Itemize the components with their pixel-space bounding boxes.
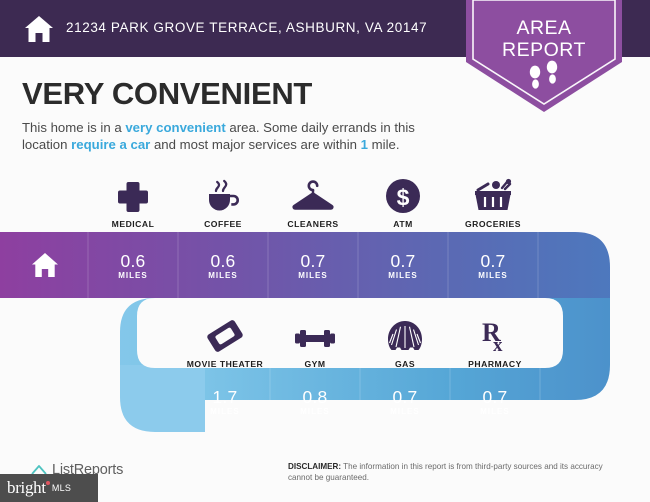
distance-movie-theater: 1.7 MILES — [180, 388, 270, 416]
coffee-cup-icon — [178, 176, 268, 214]
dollar-circle-icon: $ — [358, 176, 448, 214]
service-coffee[interactable]: COFFEE — [178, 176, 268, 229]
distance-atm: 0.7 MILES — [358, 252, 448, 280]
distance-cleaners: 0.7 MILES — [268, 252, 358, 280]
subtitle-part4: mile. — [368, 137, 400, 152]
subtitle-highlight-miles: 1 — [361, 137, 368, 152]
subtitle-highlight-car: require a car — [71, 137, 150, 152]
distance-value: 0.6 — [88, 252, 178, 271]
bright-mls-word: bright — [7, 478, 46, 498]
distance-value: 1.7 — [180, 388, 270, 407]
distance-unit: MILES — [88, 271, 178, 280]
distance-unit: MILES — [178, 271, 268, 280]
service-label: ATM — [358, 219, 448, 229]
property-address: 21234 PARK GROVE TERRACE, ASHBURN, VA 20… — [66, 20, 427, 35]
bright-mls-watermark: bright MLS — [0, 474, 98, 502]
service-label: GYM — [270, 359, 360, 369]
distance-gas: 0.7 MILES — [360, 388, 450, 416]
bright-mls-dot — [46, 481, 50, 485]
distance-value: 0.8 — [270, 388, 360, 407]
distance-value: 0.7 — [448, 252, 538, 271]
distance-unit: MILES — [450, 407, 540, 416]
medical-cross-icon — [88, 176, 178, 214]
home-icon — [22, 12, 56, 46]
distance-value: 0.7 — [268, 252, 358, 271]
service-movie-theater[interactable]: MOVIE THEATER — [180, 316, 270, 369]
rx-prescription-icon: R x — [450, 316, 540, 354]
page-subtitle: This home is in a very convenient area. … — [22, 119, 462, 153]
service-label: COFFEE — [178, 219, 268, 229]
service-medical[interactable]: MEDICAL — [88, 176, 178, 229]
distance-value: 0.7 — [358, 252, 448, 271]
service-groceries[interactable]: GROCERIES — [448, 176, 538, 229]
grocery-basket-icon — [448, 176, 538, 214]
distance-coffee: 0.6 MILES — [178, 252, 268, 280]
ribbon-home-icon — [30, 250, 60, 280]
distance-unit: MILES — [360, 407, 450, 416]
area-report-page: 21234 PARK GROVE TERRACE, ASHBURN, VA 20… — [0, 0, 650, 502]
service-label: PHARMACY — [450, 359, 540, 369]
service-cleaners[interactable]: CLEANERS — [268, 176, 358, 229]
distance-unit: MILES — [448, 271, 538, 280]
badge-line2: REPORT — [502, 39, 586, 61]
subtitle-part3: and most major services are within — [150, 137, 360, 152]
subtitle-highlight-convenience: very convenient — [125, 120, 225, 135]
distance-unit: MILES — [270, 407, 360, 416]
page-title: VERY CONVENIENT — [22, 76, 312, 112]
distance-value: 0.6 — [178, 252, 268, 271]
service-pharmacy[interactable]: R x PHARMACY — [450, 316, 540, 369]
service-label: MEDICAL — [88, 219, 178, 229]
service-gas[interactable]: GAS — [360, 316, 450, 369]
movie-ticket-icon — [180, 316, 270, 354]
service-gym[interactable]: GYM — [270, 316, 360, 369]
service-label: MOVIE THEATER — [180, 359, 270, 369]
area-report-badge: AREA REPORT — [466, 0, 622, 108]
clothes-hanger-icon — [268, 176, 358, 214]
bright-mls-suffix: MLS — [52, 483, 71, 493]
distance-medical: 0.6 MILES — [88, 252, 178, 280]
distance-value: 0.7 — [450, 388, 540, 407]
badge-line1: AREA — [516, 17, 571, 39]
svg-text:x: x — [493, 335, 503, 354]
distance-groceries: 0.7 MILES — [448, 252, 538, 280]
service-atm[interactable]: $ ATM — [358, 176, 448, 229]
service-label: CLEANERS — [268, 219, 358, 229]
distance-gym: 0.8 MILES — [270, 388, 360, 416]
distance-value: 0.7 — [360, 388, 450, 407]
dumbbell-icon — [270, 316, 360, 354]
subtitle-part1: This home is in a — [22, 120, 125, 135]
service-label: GAS — [360, 359, 450, 369]
service-label: GROCERIES — [448, 219, 538, 229]
distance-unit: MILES — [180, 407, 270, 416]
svg-text:$: $ — [397, 185, 410, 211]
distance-unit: MILES — [358, 271, 448, 280]
distance-pharmacy: 0.7 MILES — [450, 388, 540, 416]
disclaimer: DISCLAIMER: The information in this repo… — [288, 462, 618, 483]
distance-unit: MILES — [268, 271, 358, 280]
gas-shell-icon — [360, 316, 450, 354]
disclaimer-label: DISCLAIMER: — [288, 462, 341, 471]
